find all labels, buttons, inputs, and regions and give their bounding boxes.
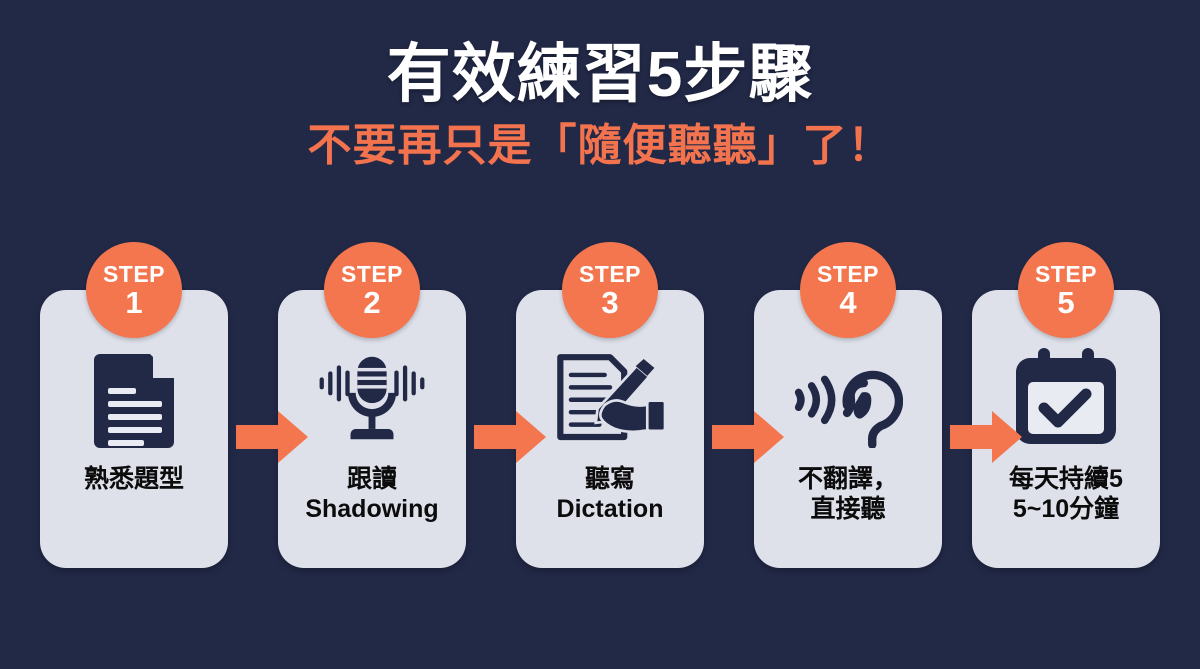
step-badge-word-1: STEP xyxy=(103,262,165,286)
step-badge-1: STEP 1 xyxy=(86,242,182,338)
arrow-4-to-5 xyxy=(950,411,1022,463)
step-badge-word-2: STEP xyxy=(341,262,403,286)
step-badge-4: STEP 4 xyxy=(800,242,896,338)
step-label-line1-2: 跟讀 xyxy=(347,465,397,493)
page-subtitle: 不要再只是「隨便聽聽」了！ xyxy=(0,120,1200,172)
step-label-line1-3: 聽寫 xyxy=(585,465,635,493)
microphone-icon xyxy=(317,346,427,450)
step-badge-number-3: 3 xyxy=(601,287,618,319)
step-badge-number-1: 1 xyxy=(125,287,142,319)
step-badge-word-5: STEP xyxy=(1035,262,1097,286)
step-label-line2-2: Shadowing xyxy=(282,494,462,524)
step-label-line2-5: 5~10分鐘 xyxy=(976,494,1156,524)
step-badge-5: STEP 5 xyxy=(1018,242,1114,338)
step-label-line1-4: 不翻譯， xyxy=(798,465,898,493)
step-badge-number-5: 5 xyxy=(1057,287,1074,319)
step-label-line1-1: 熟悉題型 xyxy=(84,465,184,493)
step-label-line1-5: 每天持續5 xyxy=(1009,465,1123,493)
ear-listening-icon xyxy=(793,346,903,450)
arrow-2-to-3 xyxy=(474,411,546,463)
step-label-4: 不翻譯， 直接聽 xyxy=(758,464,938,524)
step-badge-3: STEP 3 xyxy=(562,242,658,338)
handwriting-icon xyxy=(555,346,665,450)
step-badge-number-4: 4 xyxy=(839,287,856,319)
step-badge-number-2: 2 xyxy=(363,287,380,319)
step-label-3: 聽寫 Dictation xyxy=(520,464,700,524)
page-title: 有效練習5步驟 xyxy=(0,38,1200,110)
step-label-line2-4: 直接聽 xyxy=(758,494,938,524)
step-badge-word-4: STEP xyxy=(817,262,879,286)
step-card-1[interactable]: STEP 1 xyxy=(40,290,228,568)
arrow-3-to-4 xyxy=(712,411,784,463)
steps-row: STEP 1 xyxy=(40,290,1160,568)
step-label-line2-3: Dictation xyxy=(520,494,700,524)
step-label-2: 跟讀 Shadowing xyxy=(282,464,462,524)
poster-header: 有效練習5步驟 不要再只是「隨便聽聽」了！ xyxy=(0,38,1200,172)
document-icon xyxy=(79,346,189,450)
step-badge-2: STEP 2 xyxy=(324,242,420,338)
step-label-1: 熟悉題型 xyxy=(44,464,224,494)
arrow-1-to-2 xyxy=(236,411,308,463)
step-label-5: 每天持續5 5~10分鐘 xyxy=(976,464,1156,524)
step-badge-word-3: STEP xyxy=(579,262,641,286)
infographic-poster: 有效練習5步驟 不要再只是「隨便聽聽」了！ STEP 1 xyxy=(0,0,1200,669)
calendar-check-icon xyxy=(1011,346,1121,450)
